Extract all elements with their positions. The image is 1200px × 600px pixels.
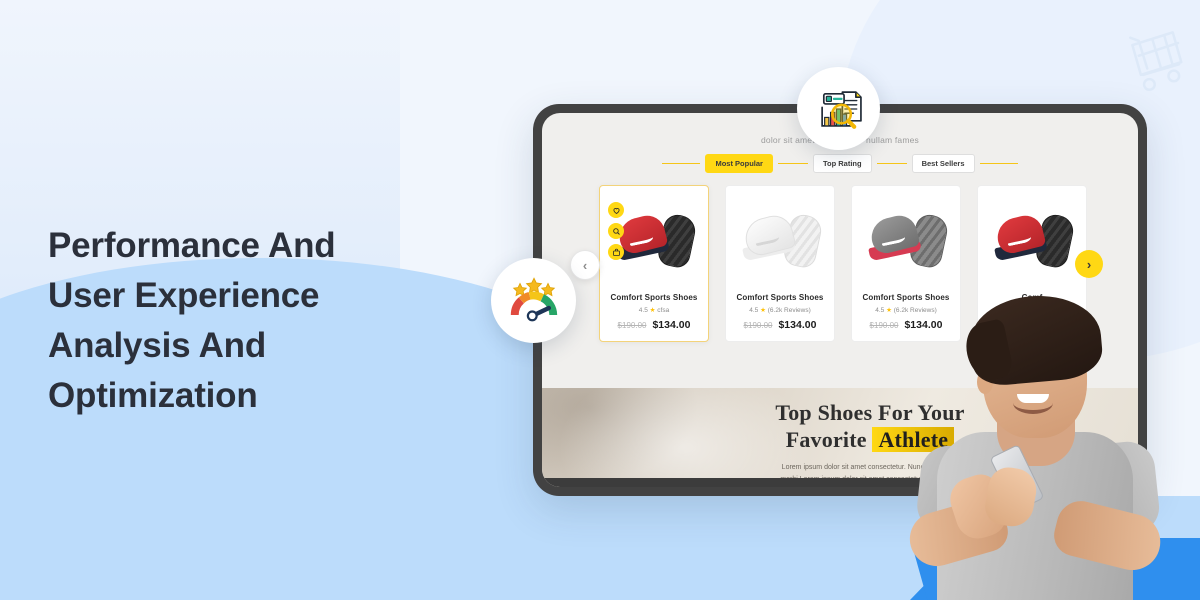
price-original: $190.00 xyxy=(744,321,773,330)
product-rating: 4.5 ★ (6.2k Reviews) xyxy=(732,306,828,314)
star-icon: ★ xyxy=(650,307,656,314)
add-to-cart-icon[interactable] xyxy=(608,244,624,260)
price-current: $134.00 xyxy=(778,319,816,331)
price-original: $190.00 xyxy=(870,321,899,330)
filter-rule-mid-1 xyxy=(778,163,808,164)
carousel-prev-button[interactable]: ‹ xyxy=(570,250,600,280)
product-price: $190.00 $134.00 xyxy=(606,319,702,331)
promo-heading-prefix: Favorite xyxy=(786,427,867,452)
poster-canvas: Performance And User Experience Analysis… xyxy=(0,0,1200,600)
product-card[interactable]: Comfort Sports Shoes 4.5 ★ cfsa $190.00 … xyxy=(599,185,709,342)
analytics-report-badge xyxy=(797,67,880,150)
quick-view-icon[interactable] xyxy=(608,223,624,239)
price-current: $134.00 xyxy=(652,319,690,331)
star-icon: ★ xyxy=(886,307,892,314)
chart-magnifier-document-icon xyxy=(812,82,866,136)
product-action-buttons xyxy=(608,202,624,260)
shoe-graphic xyxy=(993,207,1071,273)
product-rating: 4.5 ★ cfsa xyxy=(606,306,702,314)
product-image xyxy=(606,194,702,286)
filter-rule-left xyxy=(662,163,700,164)
wishlist-icon[interactable] xyxy=(608,202,624,218)
shopping-cart-icon xyxy=(1126,26,1194,94)
review-count: (6.2k Reviews) xyxy=(768,307,811,314)
product-title: Comfort Sports Shoes xyxy=(606,293,702,302)
shoe-graphic xyxy=(741,207,819,273)
page-title: Performance And User Experience Analysis… xyxy=(48,221,408,420)
performance-gauge-badge xyxy=(491,258,576,343)
filter-rule-mid-2 xyxy=(877,163,907,164)
tab-best-sellers[interactable]: Best Sellers xyxy=(912,154,975,173)
product-image xyxy=(732,194,828,286)
rating-value: 4.5 xyxy=(875,307,884,314)
product-price: $190.00 $134.00 xyxy=(732,319,828,331)
filter-tabs: Most Popular Top Rating Best Sellers xyxy=(542,154,1138,173)
rating-value: 4.5 xyxy=(639,307,648,314)
filter-rule-right xyxy=(980,163,1018,164)
shoe-graphic xyxy=(615,207,693,273)
tab-top-rating[interactable]: Top Rating xyxy=(813,154,872,173)
rating-value: 4.5 xyxy=(749,307,758,314)
star-icon: ★ xyxy=(760,307,766,314)
product-card[interactable]: Comfort Sports Shoes 4.5 ★ (6.2k Reviews… xyxy=(725,185,835,342)
speedometer-stars-icon xyxy=(506,273,562,329)
tab-most-popular[interactable]: Most Popular xyxy=(705,154,773,173)
review-count: cfsa xyxy=(657,307,669,314)
shoe-graphic xyxy=(867,207,945,273)
product-title: Comfort Sports Shoes xyxy=(732,293,828,302)
person-photo xyxy=(905,270,1200,600)
price-original: $190.00 xyxy=(618,321,647,330)
